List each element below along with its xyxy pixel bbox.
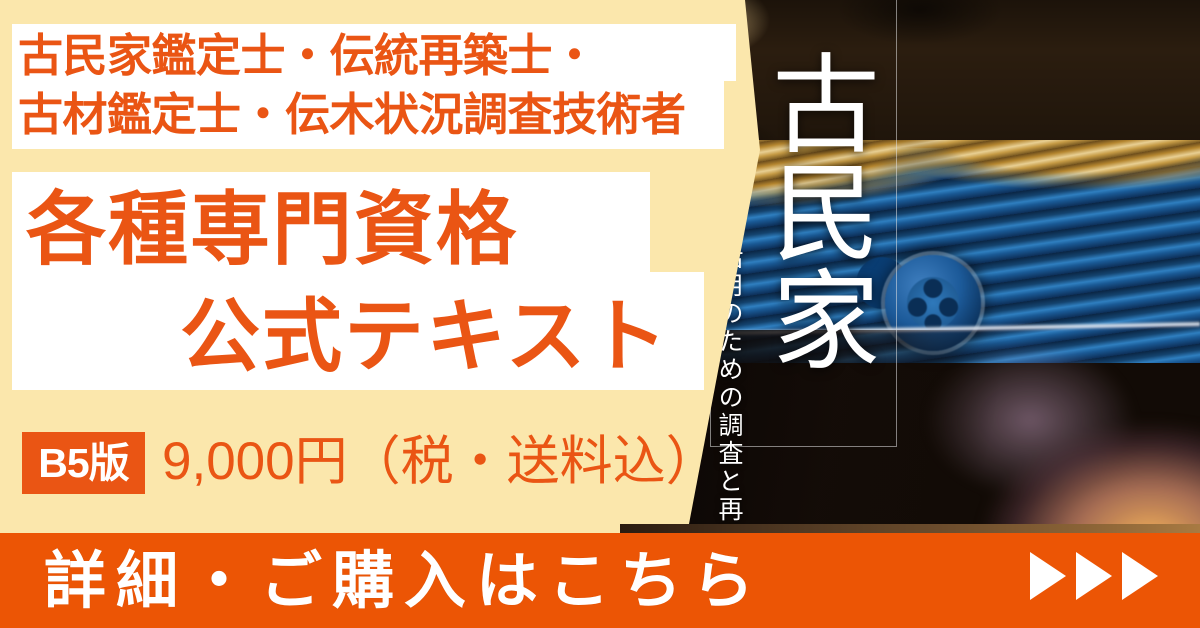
headline-top-line1: 古民家鑑定士・伝統再築士・: [18, 26, 734, 85]
price-text: 9,000円（税・送料込）: [162, 428, 719, 496]
headline-top: 古民家鑑定士・伝統再築士・ 古材鑑定士・伝木状況調査技術者: [18, 26, 734, 150]
triangle-right-icon: [1030, 552, 1066, 600]
headline-main: 各種専門資格 公式テキスト: [18, 176, 708, 388]
cta-arrows: [1030, 552, 1158, 600]
triangle-right-icon: [1122, 552, 1158, 600]
format-badge: B5版: [22, 432, 145, 494]
headline-top-line2: 古材鑑定士・伝木状況調査技術者: [18, 85, 734, 144]
headline-main-line2: 公式テキスト: [18, 283, 708, 390]
cta-label[interactable]: 詳細・ご購入はこちら: [44, 534, 764, 628]
triangle-right-icon: [1076, 552, 1112, 600]
headline-main-line1: 各種専門資格: [18, 176, 708, 283]
promo-banner: 古民家 伝統構法 古民家活用のための調査と再生の 古民家鑑定士・伝統再築士・ 古…: [0, 0, 1200, 628]
